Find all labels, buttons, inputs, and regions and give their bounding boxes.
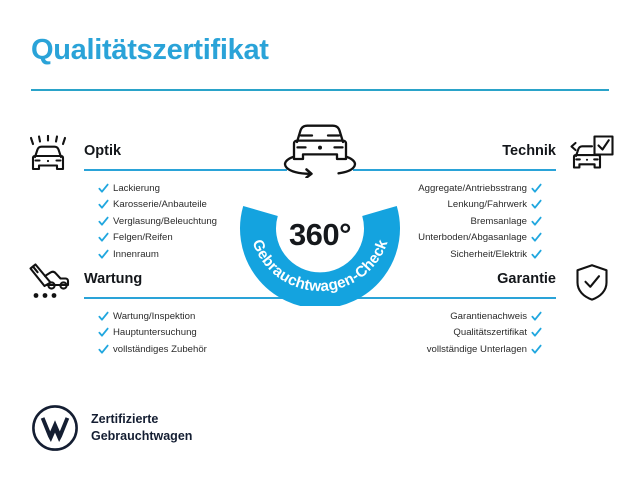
section-technik-title: Technik: [502, 143, 556, 159]
list-item-label: Felgen/Reifen: [113, 232, 173, 243]
vw-logo: [31, 404, 79, 452]
section-optik-title: Optik: [84, 143, 121, 159]
list-item: Hauptuntersuchung: [98, 325, 207, 342]
section-optik-list: Lackierung Karosserie/Anbauteile Verglas…: [98, 180, 217, 263]
list-item-label: Sicherheit/Elektrik: [450, 249, 527, 260]
list-item: Lenkung/Fahrwerk: [418, 197, 542, 214]
check-icon: [531, 327, 542, 338]
list-item-label: Lenkung/Fahrwerk: [448, 199, 527, 210]
list-item: Lackierung: [98, 180, 217, 197]
page-title: Qualitätszertifikat: [31, 34, 269, 67]
section-garantie-title: Garantie: [497, 271, 556, 287]
section-garantie-list: Garantienachweis Qualitätszertifikat vol…: [427, 308, 542, 358]
check-icon: [531, 311, 542, 322]
check-icon: [98, 344, 109, 355]
list-item: Wartung/Inspektion: [98, 308, 207, 325]
pen-car-service-icon: [22, 261, 74, 305]
list-item-label: Verglasung/Beleuchtung: [113, 216, 217, 227]
footer-brand: Zertifizierte Gebrauchtwagen: [31, 404, 192, 452]
shield-check-icon: [566, 261, 618, 305]
list-item: Unterboden/Abgasanlage: [418, 230, 542, 247]
list-item-label: vollständige Unterlagen: [427, 344, 527, 355]
footer-line-2: Gebrauchtwagen: [91, 428, 192, 445]
360-check-badge: Gebrauchtwagen-Check 360°: [225, 116, 415, 306]
list-item: Karosserie/Anbauteile: [98, 197, 217, 214]
section-wartung-list: Wartung/Inspektion Hauptuntersuchung vol…: [98, 308, 207, 358]
list-item-label: Unterboden/Abgasanlage: [418, 232, 527, 243]
check-icon: [98, 249, 109, 260]
list-item: vollständige Unterlagen: [427, 341, 542, 358]
list-item-label: Wartung/Inspektion: [113, 311, 195, 322]
list-item-label: Bremsanlage: [470, 216, 527, 227]
section-technik-list: Aggregate/Antriebsstrang Lenkung/Fahrwer…: [418, 180, 542, 263]
check-icon: [98, 183, 109, 194]
badge-center-label: 360°: [225, 217, 415, 253]
list-item-label: Hauptuntersuchung: [113, 327, 197, 338]
list-item: vollständiges Zubehör: [98, 341, 207, 358]
check-icon: [98, 327, 109, 338]
footer-line-1: Zertifizierte: [91, 411, 192, 428]
list-item: Qualitätszertifikat: [427, 325, 542, 342]
list-item: Verglasung/Beleuchtung: [98, 213, 217, 230]
check-icon: [98, 232, 109, 243]
certificate-page: Qualitätszertifikat Optik Lackierung: [0, 0, 640, 480]
list-item: Felgen/Reifen: [98, 230, 217, 247]
check-icon: [531, 232, 542, 243]
check-icon: [531, 183, 542, 194]
check-icon: [531, 249, 542, 260]
list-item-label: Innenraum: [113, 249, 159, 260]
title-divider: [31, 89, 609, 91]
check-icon: [531, 199, 542, 210]
car-shine-icon: [22, 133, 74, 177]
section-wartung-title: Wartung: [84, 271, 142, 287]
check-icon: [98, 216, 109, 227]
list-item-label: Aggregate/Antriebsstrang: [418, 183, 527, 194]
check-icon: [98, 199, 109, 210]
list-item-label: Qualitätszertifikat: [453, 327, 527, 338]
list-item-label: vollständiges Zubehör: [113, 344, 207, 355]
check-icon: [531, 216, 542, 227]
check-icon: [98, 311, 109, 322]
list-item-label: Lackierung: [113, 183, 160, 194]
footer-text: Zertifizierte Gebrauchtwagen: [91, 411, 192, 445]
list-item-label: Garantienachweis: [450, 311, 527, 322]
list-item: Garantienachweis: [427, 308, 542, 325]
car-checkbox-icon: [566, 133, 618, 177]
list-item: Aggregate/Antriebsstrang: [418, 180, 542, 197]
list-item-label: Karosserie/Anbauteile: [113, 199, 207, 210]
list-item: Bremsanlage: [418, 213, 542, 230]
check-icon: [531, 344, 542, 355]
